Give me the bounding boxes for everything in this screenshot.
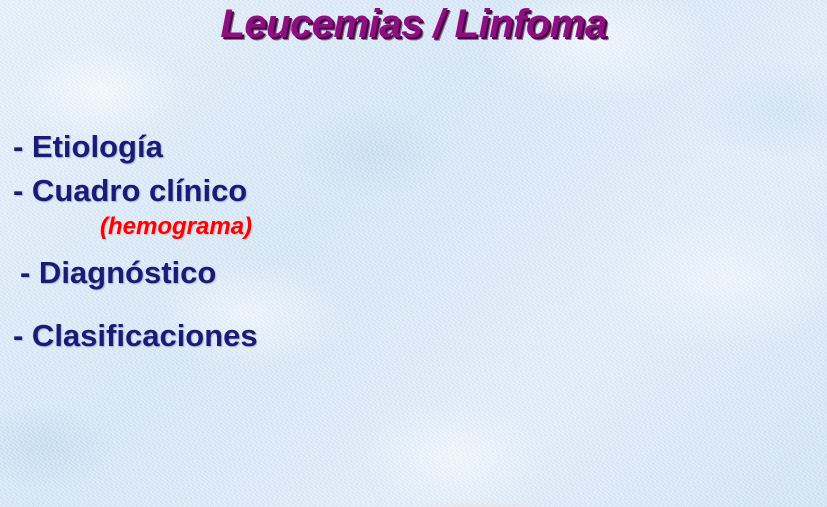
bullet-clasificaciones: - Clasificaciones: [0, 320, 380, 351]
topic-list: - Etiología - Cuadro clínico (hemograma)…: [0, 131, 380, 351]
slide-canvas: Leucemias / Linfoma - Etiología - Cuadro…: [0, 0, 827, 507]
blood-smear-micrograph: [368, 504, 590, 507]
bullet-diagnostico: - Diagnóstico: [0, 257, 380, 288]
slide-title: Leucemias / Linfoma: [0, 2, 827, 47]
bullet-hemograma-note: (hemograma): [0, 213, 380, 241]
bullet-cuadro-clinico: - Cuadro clínico: [0, 175, 380, 206]
bullet-etiologia: - Etiología: [0, 131, 380, 162]
